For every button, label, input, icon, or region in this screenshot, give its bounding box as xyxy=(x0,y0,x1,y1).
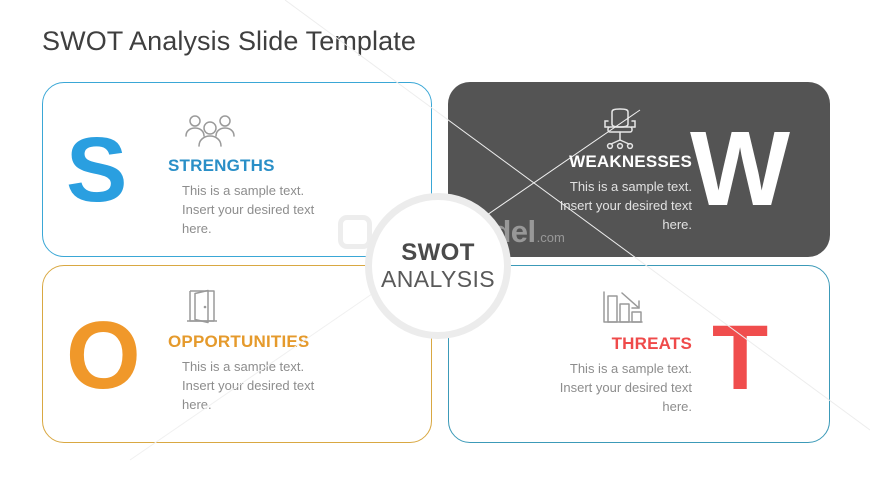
quadrant-content-weaknesses: WEAKNESSES This is a sample text. Insert… xyxy=(520,108,692,235)
quadrant-content-opportunities: OPPORTUNITIES This is a sample text. Ins… xyxy=(168,288,388,415)
quadrant-body-strengths: This is a sample text. Insert your desir… xyxy=(182,182,340,239)
page-title: SWOT Analysis Slide Template xyxy=(42,26,416,57)
center-subtitle: ANALYSIS xyxy=(381,266,495,292)
quadrant-heading-opportunities: OPPORTUNITIES xyxy=(168,332,388,352)
quadrant-content-strengths: STRENGTHS This is a sample text. Insert … xyxy=(168,112,388,239)
swot-slide: SWOT Analysis Slide Template S W O T STR… xyxy=(0,0,870,489)
quadrant-body-weaknesses: This is a sample text. Insert your desir… xyxy=(534,178,692,235)
quadrant-body-threats: This is a sample text. Insert your desir… xyxy=(534,360,692,417)
center-title: SWOT xyxy=(401,240,475,266)
big-letter-o: O xyxy=(66,308,141,404)
big-letter-w: W xyxy=(690,116,790,222)
office-chair-icon xyxy=(520,108,692,150)
quadrant-heading-strengths: STRENGTHS xyxy=(168,156,388,176)
big-letter-s: S xyxy=(66,124,127,216)
people-group-icon xyxy=(168,112,388,154)
quadrant-content-threats: THREATS This is a sample text. Insert yo… xyxy=(520,290,692,417)
quadrant-heading-threats: THREATS xyxy=(520,334,692,354)
open-door-icon xyxy=(168,288,388,330)
center-swot-circle[interactable]: SWOT ANALYSIS xyxy=(365,193,511,339)
declining-bar-chart-icon xyxy=(520,290,692,332)
big-letter-t: T xyxy=(712,312,768,404)
quadrant-heading-weaknesses: WEAKNESSES xyxy=(520,152,692,172)
quadrant-body-opportunities: This is a sample text. Insert your desir… xyxy=(182,358,340,415)
